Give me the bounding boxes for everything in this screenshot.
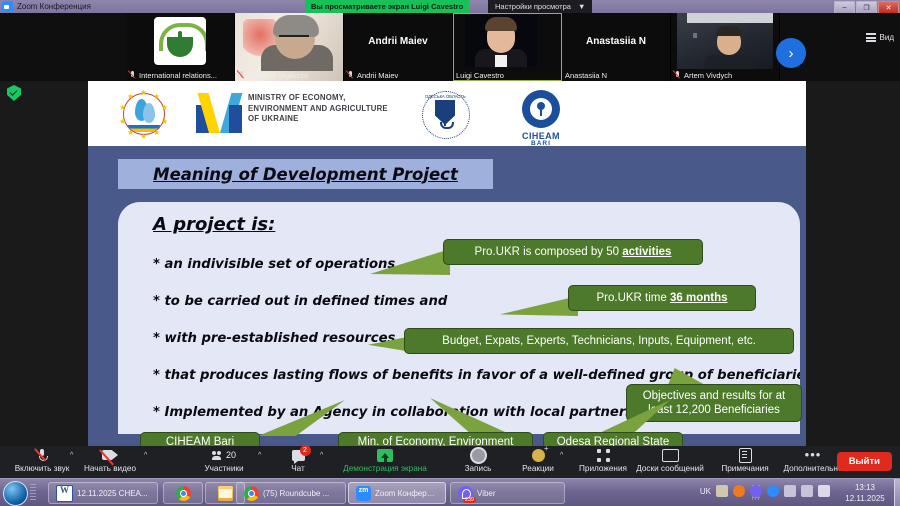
window-title: Zoom Конференция	[17, 2, 91, 11]
participant-name: Artem Vivdych	[684, 71, 732, 80]
slide-logo-header: ★ ★ ★ ★ ★ ★ ★ ★ ★ ★ MINISTRY OF ECONOMY,…	[88, 81, 806, 146]
muted-mic-icon	[238, 71, 245, 80]
next-participants-button[interactable]: ›	[776, 38, 806, 68]
organization-logo-icon	[154, 17, 206, 65]
view-layout-label: Вид	[880, 33, 894, 42]
view-settings-button[interactable]: Настройки просмотра ▼	[488, 0, 592, 13]
toolbar-start-video-label: Начать видео	[84, 464, 136, 473]
share-screen-icon	[377, 447, 393, 463]
taskbar-item-label: 12.11.2025 CHEA...	[77, 489, 148, 498]
avast-icon[interactable]	[733, 485, 745, 497]
chrome-icon	[176, 486, 191, 501]
participant-namebar: Anastasiia N	[562, 69, 670, 81]
screen-share-banner: Вы просматриваете экран Luigi Cavestro	[305, 0, 469, 13]
screen-share-banner-text: Вы просматриваете экран Luigi Cavestro	[311, 2, 463, 11]
chevron-up-icon[interactable]: ^	[320, 452, 323, 459]
zoom-icon	[356, 486, 371, 501]
viber-badge: 239	[463, 497, 476, 503]
ministry-line-1: MINISTRY OF ECONOMY,	[248, 93, 388, 104]
taskbar-item-word[interactable]: 12.11.2025 CHEA...	[48, 482, 158, 504]
eu-water-logo-icon: ★ ★ ★ ★ ★ ★ ★ ★ ★ ★	[114, 89, 172, 139]
odesa-oblast-seal-icon: ОДЕСЬКА ОБЛАСТЬ	[418, 89, 472, 141]
ministry-logo-icon	[196, 89, 242, 135]
zoom-meeting-window: Zoom Конференция Вы просматриваете экран…	[0, 0, 900, 506]
toolbar-share-screen-button[interactable]: Демонстрация экрана	[325, 447, 445, 473]
taskbar-item-chrome-1[interactable]	[163, 482, 203, 504]
flag-icon[interactable]	[801, 485, 813, 497]
whiteboard-icon	[662, 447, 679, 463]
slide-title-band: Meaning of Development Project	[118, 159, 493, 189]
zoom-toolbar: Включить звук ^ Начать видео ^ 20 Участн…	[0, 446, 900, 478]
participant-name: Carmelo Sigliuzzo	[248, 71, 308, 80]
zoom-app-icon	[2, 1, 13, 12]
participant-tile-luigi-cavestro[interactable]: Luigi Cavestro	[453, 13, 562, 81]
toolbar-apps-label: Приложения	[579, 464, 627, 473]
callout-duration: Pro.UKR time 36 months	[568, 285, 756, 311]
taskbar-clock[interactable]: 13:13 12.11.2025	[836, 482, 894, 504]
chrome-icon	[244, 486, 259, 501]
network-icon[interactable]	[784, 485, 796, 497]
participant-namebar: Artem Vivdych	[671, 69, 779, 81]
word-icon	[56, 485, 73, 502]
slide-bullet-2: * to be carried out in defined times and	[153, 294, 447, 309]
ellipsis-icon: •••	[805, 447, 822, 463]
participant-tile-international-relations[interactable]: International relations...	[126, 13, 235, 81]
microphone-muted-icon	[38, 447, 46, 463]
view-layout-button[interactable]: Вид	[866, 33, 894, 42]
camera-muted-icon	[102, 447, 118, 463]
security-shield-icon	[7, 85, 21, 101]
window-titlebar: Zoom Конференция Вы просматриваете экран…	[0, 0, 900, 13]
toolbar-start-video-button[interactable]: Начать видео ^	[62, 447, 158, 473]
toolbar-participants-label: Участники	[204, 464, 243, 473]
slide-bullet-5: * Implemented by an Agency in collaborat…	[153, 405, 633, 420]
callout-duration-text: Pro.UKR time 36 months	[596, 291, 727, 305]
toolbar-more-label: Дополнительно	[784, 464, 843, 473]
viber-icon: 239	[458, 486, 473, 501]
viber-icon[interactable]	[750, 485, 762, 497]
participant-tile-carmelo-sigliuzzo[interactable]: Carmelo Sigliuzzo	[235, 13, 344, 81]
ministry-line-3: OF UKRAINE	[248, 114, 388, 125]
ministry-logo-text: MINISTRY OF ECONOMY, ENVIRONMENT AND AGR…	[248, 93, 388, 125]
grid-view-icon	[866, 33, 876, 42]
system-tray: UK	[700, 485, 830, 497]
taskbar-item-zoom[interactable]: Zoom Конферен...	[348, 482, 446, 504]
slide-bullet-1: * an indivisible set of operations	[153, 257, 395, 272]
callout-beneficiaries: Objectives and results for atleast 12,20…	[626, 384, 802, 422]
toolbar-reactions-label: Реакции	[522, 464, 554, 473]
participant-display-name: Anastasiia N	[562, 13, 670, 69]
people-icon: 20	[212, 447, 236, 463]
toolbar-record-label: Запись	[465, 464, 492, 473]
start-button-icon[interactable]	[3, 481, 28, 506]
chevron-up-icon[interactable]: ^	[144, 452, 147, 459]
participant-video	[677, 13, 773, 69]
muted-mic-icon	[674, 71, 681, 80]
callout-resources: Budget, Expats, Experts, Technicians, In…	[404, 328, 794, 354]
muted-mic-icon	[347, 71, 354, 80]
toolbar-whiteboards-label: Доски сообщений	[636, 464, 704, 473]
slide-heading: A project is:	[153, 214, 275, 235]
slide-bullet-3: * with pre-established resources	[153, 331, 395, 346]
callout-activities-text: Pro.UKR is composed by 50 activities	[475, 245, 672, 259]
callout-resources-text: Budget, Expats, Experts, Technicians, In…	[442, 334, 756, 348]
toolbar-notes-label: Примечания	[721, 464, 768, 473]
record-icon	[470, 447, 487, 463]
participant-name: International relations...	[139, 71, 217, 80]
participant-namebar: International relations...	[126, 69, 234, 81]
taskbar-grip	[30, 484, 36, 502]
zoom-icon[interactable]	[767, 485, 779, 497]
keyboard-icon[interactable]	[716, 485, 728, 497]
participant-strip: International relations... Carmelo Sigli…	[0, 13, 900, 81]
slide-title: Meaning of Development Project	[153, 165, 458, 184]
participant-tile-anastasiia-n[interactable]: Anastasiia N Anastasiia N	[562, 13, 671, 81]
ciheam-logo-icon: CIHEAM BARI	[510, 89, 572, 145]
apps-icon	[597, 447, 610, 463]
odesa-seal-caption: ОДЕСЬКА ОБЛАСТЬ	[425, 94, 466, 99]
participant-tile-artem-vivdych[interactable]: Artem Vivdych	[671, 13, 780, 81]
participants-count: 20	[226, 450, 236, 460]
chat-unread-badge: 2	[300, 445, 311, 456]
notes-icon	[739, 447, 752, 463]
show-desktop-button[interactable]	[894, 479, 900, 506]
language-indicator[interactable]: UK	[700, 487, 711, 496]
folder-icon	[218, 486, 233, 501]
chevron-down-icon: ▼	[578, 2, 585, 11]
toolbar-share-screen-label: Демонстрация экрана	[343, 464, 427, 473]
participant-tile-andrii-maiev[interactable]: Andrii Maiev Andrii Maiev	[344, 13, 453, 81]
callout-activities: Pro.UKR is composed by 50 activities	[443, 239, 703, 265]
reactions-icon	[532, 447, 545, 463]
slide-bullet-4: * that produces lasting flows of benefit…	[153, 368, 800, 383]
taskbar-item-label: (75) Roundcube ...	[263, 489, 329, 498]
participant-tiles: International relations... Carmelo Sigli…	[126, 13, 780, 81]
clock-date: 12.11.2025	[836, 493, 894, 504]
ministry-line-2: ENVIRONMENT AND AGRICULTURE	[248, 104, 388, 115]
taskbar-item-viber[interactable]: 239 Viber	[450, 482, 565, 504]
participant-namebar: Luigi Cavestro	[453, 69, 561, 81]
view-settings-label: Настройки просмотра	[495, 2, 571, 11]
participant-namebar: Andrii Maiev	[344, 69, 452, 81]
participant-video	[465, 15, 537, 67]
taskbar-item-label: Viber	[477, 489, 496, 498]
participant-namebar: Carmelo Sigliuzzo	[235, 69, 343, 81]
muted-mic-icon	[129, 71, 136, 80]
participant-name: Anastasiia N	[565, 71, 607, 80]
clock-time: 13:13	[836, 482, 894, 493]
volume-icon[interactable]	[818, 485, 830, 497]
leave-meeting-button[interactable]: Выйти	[837, 452, 892, 471]
taskbar-item-label: Zoom Конферен...	[375, 489, 438, 498]
chat-bubble-icon: 2	[292, 447, 305, 463]
taskbar-item-roundcube[interactable]: (75) Roundcube ...	[236, 482, 346, 504]
participant-name: Luigi Cavestro	[456, 71, 504, 80]
participant-name: Andrii Maiev	[357, 71, 398, 80]
windows-taskbar: 12.11.2025 CHEA... (75) Roundcube ... Zo…	[0, 478, 900, 506]
participant-display-name: Andrii Maiev	[344, 13, 452, 69]
toolbar-chat-label: Чат	[291, 464, 305, 473]
